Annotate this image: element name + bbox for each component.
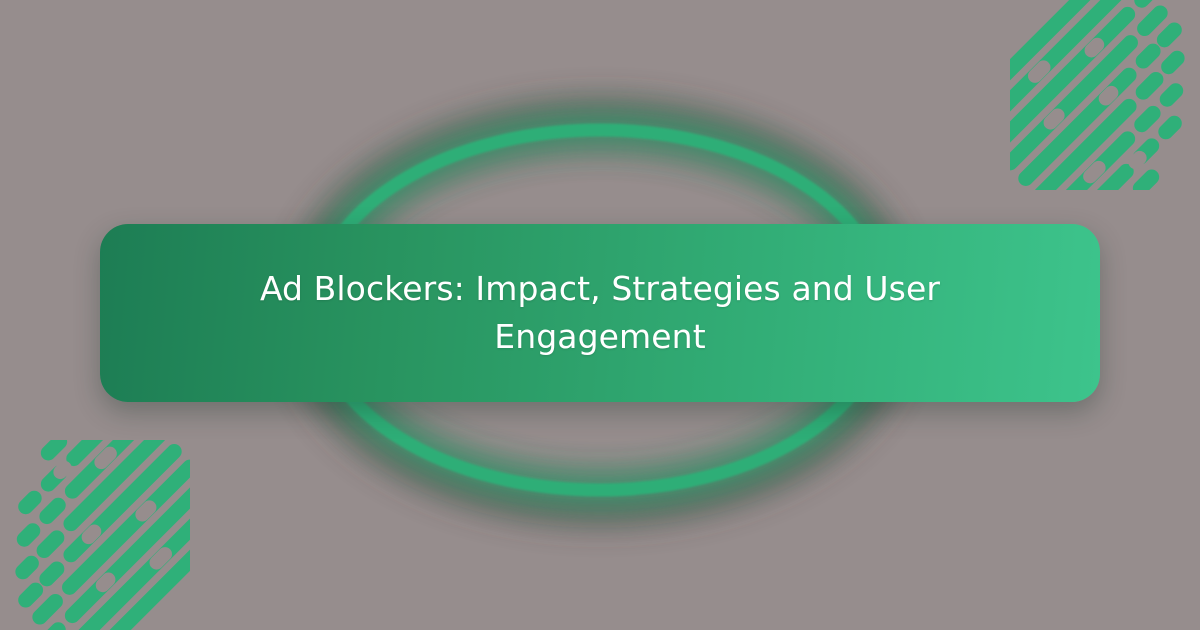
banner-root: Ad Blockers: Impact, Strategies and User…	[0, 0, 1200, 630]
title-card: Ad Blockers: Impact, Strategies and User…	[100, 224, 1100, 402]
page-title: Ad Blockers: Impact, Strategies and User…	[250, 265, 950, 361]
